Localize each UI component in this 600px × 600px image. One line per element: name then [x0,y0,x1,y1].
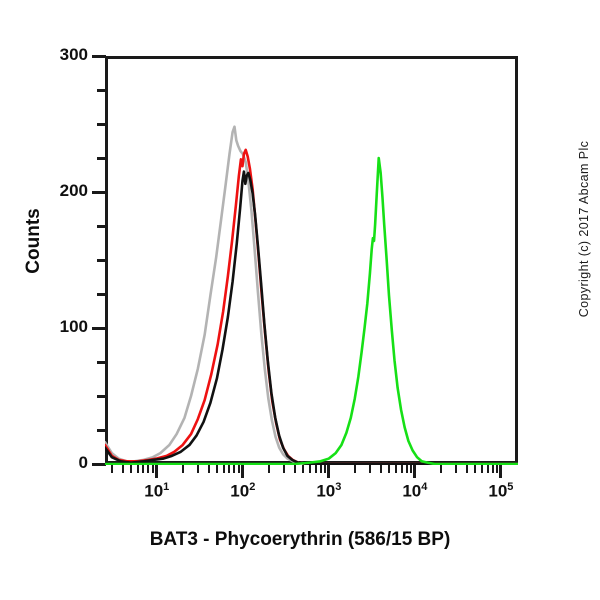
x-tick-minor [309,465,311,473]
y-tick-minor [97,429,106,432]
y-tick-label: 100 [2,317,88,337]
x-tick-minor [122,465,124,473]
x-tick-major [499,465,502,478]
x-tick-minor [228,465,230,473]
y-tick-label: 0 [2,453,88,473]
x-tick-minor [137,465,139,473]
y-tick-minor [97,157,106,160]
x-tick-minor [481,465,483,473]
x-tick-minor [147,465,149,473]
x-tick-minor [324,465,326,473]
x-tick-minor [315,465,317,473]
x-tick-minor [406,465,408,473]
y-tick-minor [97,259,106,262]
x-tick-label: 102 [230,481,255,502]
x-tick-minor [369,465,371,473]
y-tick-minor [97,225,106,228]
y-tick-label: 200 [2,181,88,201]
x-tick-minor [401,465,403,473]
x-tick-minor [380,465,382,473]
y-tick-minor [97,361,106,364]
x-tick-minor [302,465,304,473]
x-tick-minor [208,465,210,473]
x-tick-minor [466,465,468,473]
x-tick-label: 104 [402,481,427,502]
x-tick-minor [487,465,489,473]
x-tick-minor [294,465,296,473]
x-tick-minor [216,465,218,473]
y-tick-major [92,463,106,466]
x-tick-major [327,465,330,478]
y-tick-minor [97,395,106,398]
flow-cytometry-figure: 0100200300 101102103104105 BAT3 - Phycoe… [0,0,600,600]
x-tick-label: 101 [144,481,169,502]
x-tick-minor [152,465,154,473]
x-tick-label: 105 [488,481,513,502]
x-tick-minor [111,465,113,473]
plot-area [105,56,518,464]
x-tick-minor [496,465,498,473]
x-axis-title: BAT3 - Phycoerythrin (586/15 BP) [0,529,600,551]
copyright-notice: Copyright (c) 2017 Abcam Plc [577,119,591,339]
y-tick-major [92,55,106,58]
x-tick-minor [474,465,476,473]
x-tick-minor [440,465,442,473]
x-tick-minor [395,465,397,473]
x-tick-minor [320,465,322,473]
y-axis-title: Counts [23,171,45,311]
x-tick-minor [492,465,494,473]
y-tick-major [92,327,106,330]
x-tick-major [155,465,158,478]
x-tick-minor [268,465,270,473]
x-tick-minor [410,465,412,473]
x-tick-minor [182,465,184,473]
x-tick-minor [388,465,390,473]
x-tick-minor [455,465,457,473]
y-tick-label: 300 [2,45,88,65]
x-tick-minor [197,465,199,473]
x-tick-minor [354,465,356,473]
y-tick-minor [97,123,106,126]
x-tick-minor [223,465,225,473]
x-tick-minor [238,465,240,473]
x-tick-major [241,465,244,478]
x-tick-minor [233,465,235,473]
x-tick-label: 103 [316,481,341,502]
y-tick-minor [97,89,106,92]
x-tick-minor [130,465,132,473]
x-tick-minor [142,465,144,473]
x-tick-major [413,465,416,478]
y-tick-minor [97,293,106,296]
y-tick-major [92,191,106,194]
x-tick-minor [283,465,285,473]
